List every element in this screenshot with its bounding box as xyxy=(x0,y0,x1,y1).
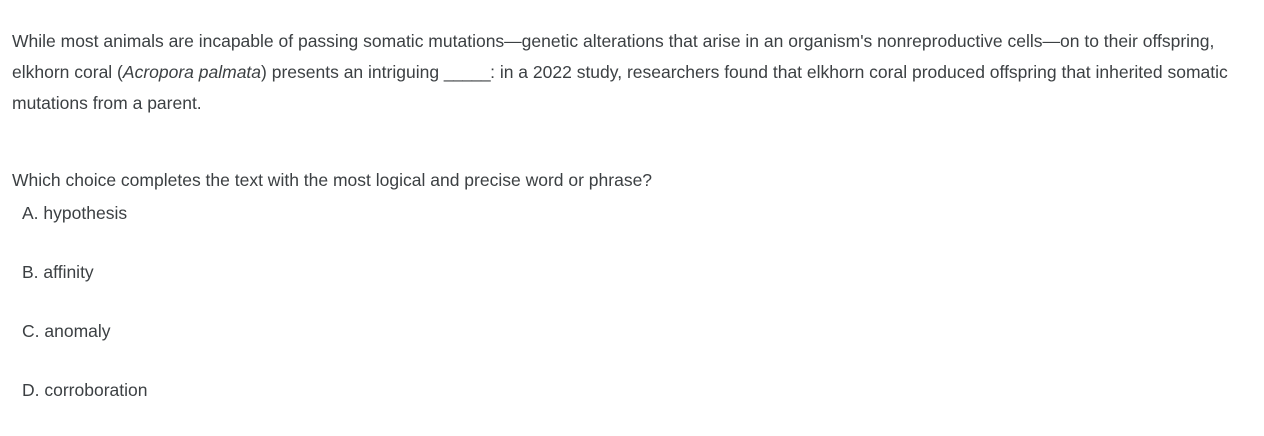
scientific-name: Acropora palmata xyxy=(123,62,261,82)
answer-choice-a[interactable]: A. hypothesis xyxy=(22,200,622,259)
answer-choice-a-text: hypothesis xyxy=(43,203,127,223)
answer-choice-a-letter: A. xyxy=(22,203,39,223)
answer-choices-list: A. hypothesis B. affinity C. anomaly D. … xyxy=(22,200,622,436)
answer-blank: _____ xyxy=(444,62,490,82)
answer-choice-b[interactable]: B. affinity xyxy=(22,259,622,318)
answer-choice-b-text: affinity xyxy=(43,262,93,282)
question-view: While most animals are incapable of pass… xyxy=(0,0,1264,406)
answer-choice-c[interactable]: C. anomaly xyxy=(22,318,622,377)
answer-choice-d[interactable]: D. corroboration xyxy=(22,377,622,436)
answer-choice-c-text: anomaly xyxy=(44,321,110,341)
answer-choice-d-letter: D. xyxy=(22,380,40,400)
answer-choice-c-letter: C. xyxy=(22,321,40,341)
passage-segment-2: ) presents an intriguing xyxy=(261,62,444,82)
passage-text: While most animals are incapable of pass… xyxy=(12,26,1260,119)
answer-choice-d-text: corroboration xyxy=(44,380,147,400)
answer-choice-b-letter: B. xyxy=(22,262,39,282)
question-prompt: Which choice completes the text with the… xyxy=(12,167,1212,193)
